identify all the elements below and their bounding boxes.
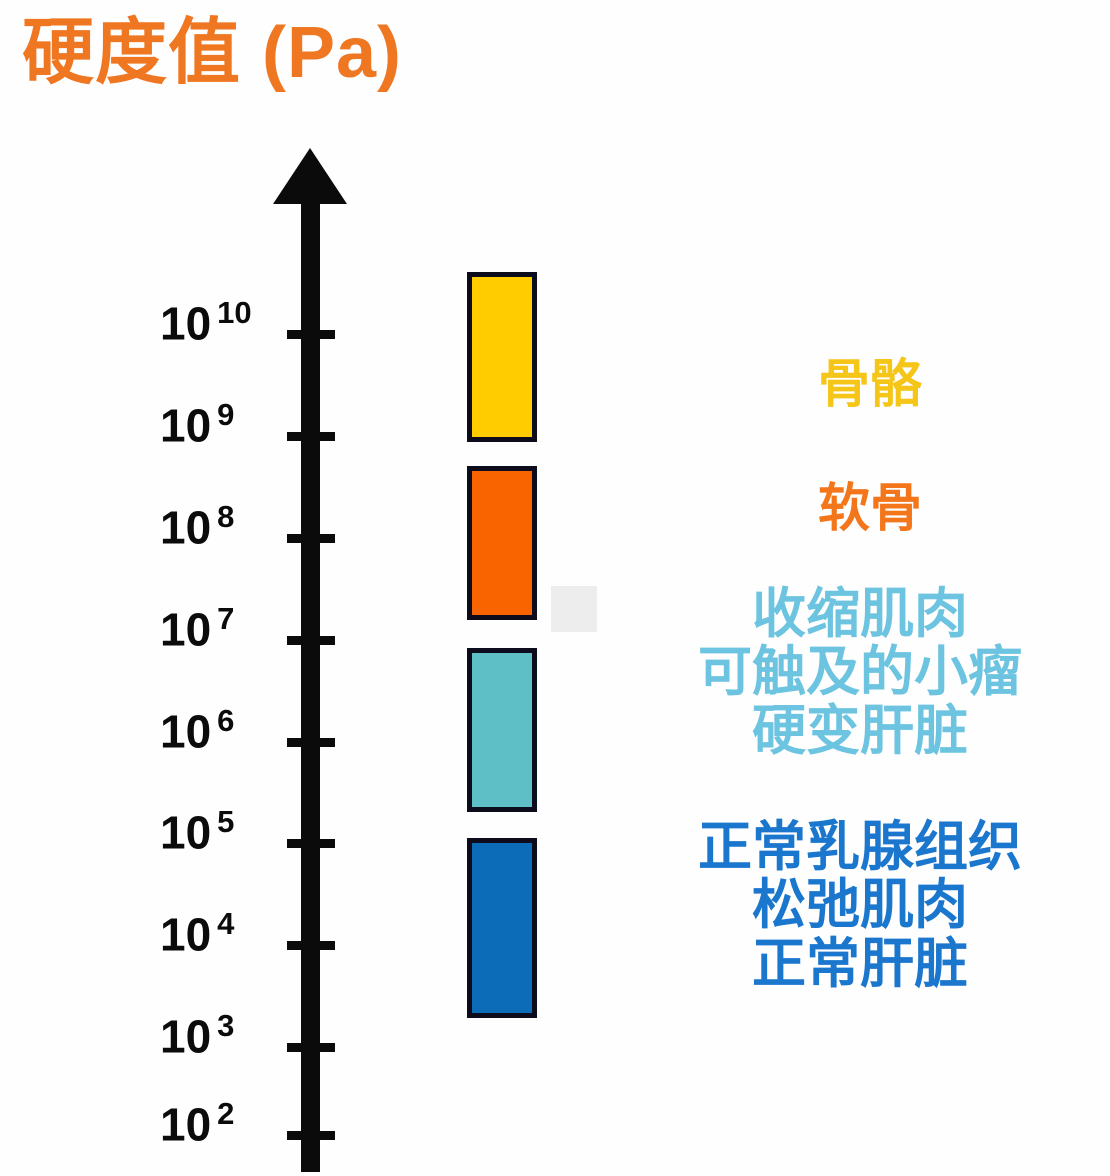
axis-tick (287, 738, 335, 747)
legend-line: 正常肝脏 (620, 935, 1100, 993)
bar-soft-tissue-normal (467, 838, 537, 1018)
axis-tick-label: 105 (160, 804, 292, 859)
axis-arrow-icon (273, 148, 347, 204)
legend-line: 骨骼 (640, 358, 1100, 414)
tick-exponent: 7 (217, 601, 234, 636)
legend-label-cartilage: 软骨 (640, 482, 1100, 538)
tick-exponent: 4 (217, 906, 234, 941)
legend-line: 正常乳腺组织 (620, 818, 1100, 876)
axis-tick (287, 636, 335, 645)
page-title: 硬度值 (Pa) (22, 14, 402, 93)
tick-exponent: 5 (217, 804, 234, 839)
tick-exponent: 10 (217, 295, 251, 330)
tick-exponent: 8 (217, 499, 234, 534)
tick-exponent: 3 (217, 1008, 234, 1043)
axis-tick-label: 109 (160, 397, 292, 452)
axis-tick-label: 108 (160, 499, 292, 554)
tick-mantissa: 10 (160, 1010, 211, 1062)
tick-mantissa: 10 (160, 806, 211, 858)
axis-tick (287, 534, 335, 543)
axis-tick-label: 1010 (160, 295, 292, 350)
axis-tick (287, 1043, 335, 1052)
axis-tick-label: 103 (160, 1008, 292, 1063)
tick-mantissa: 10 (160, 501, 211, 553)
tick-mantissa: 10 (160, 1098, 211, 1150)
gray-square-artifact (551, 586, 597, 632)
legend-line: 可触及的小瘤 (620, 643, 1100, 701)
legend-line: 松弛肌肉 (620, 876, 1100, 934)
tick-mantissa: 10 (160, 297, 211, 349)
axis-tick-label: 104 (160, 906, 292, 961)
tick-mantissa: 10 (160, 908, 211, 960)
legend-label-normal-tissue: 正常乳腺组织 松弛肌肉 正常肝脏 (620, 818, 1100, 993)
axis-tick (287, 330, 335, 339)
tick-exponent: 6 (217, 703, 234, 738)
bar-cartilage (467, 466, 537, 620)
axis-line (301, 196, 320, 1172)
axis-tick-label: 102 (160, 1096, 292, 1151)
axis-tick-label: 107 (160, 601, 292, 656)
legend-line: 硬变肝脏 (620, 702, 1100, 760)
tick-mantissa: 10 (160, 603, 211, 655)
axis-tick (287, 1131, 335, 1140)
bar-bone (467, 272, 537, 442)
tick-exponent: 2 (217, 1096, 234, 1131)
legend-label-bone: 骨骼 (640, 358, 1100, 414)
axis-tick (287, 432, 335, 441)
tick-mantissa: 10 (160, 705, 211, 757)
axis-tick (287, 839, 335, 848)
tick-mantissa: 10 (160, 399, 211, 451)
legend-line: 收缩肌肉 (620, 585, 1100, 643)
axis-tick (287, 941, 335, 950)
tick-exponent: 9 (217, 397, 234, 432)
axis-tick-label: 106 (160, 703, 292, 758)
legend-line: 软骨 (640, 482, 1100, 538)
legend-label-firm-tissue: 收缩肌肉 可触及的小瘤 硬变肝脏 (620, 585, 1100, 760)
bar-soft-tissue-firm (467, 648, 537, 812)
